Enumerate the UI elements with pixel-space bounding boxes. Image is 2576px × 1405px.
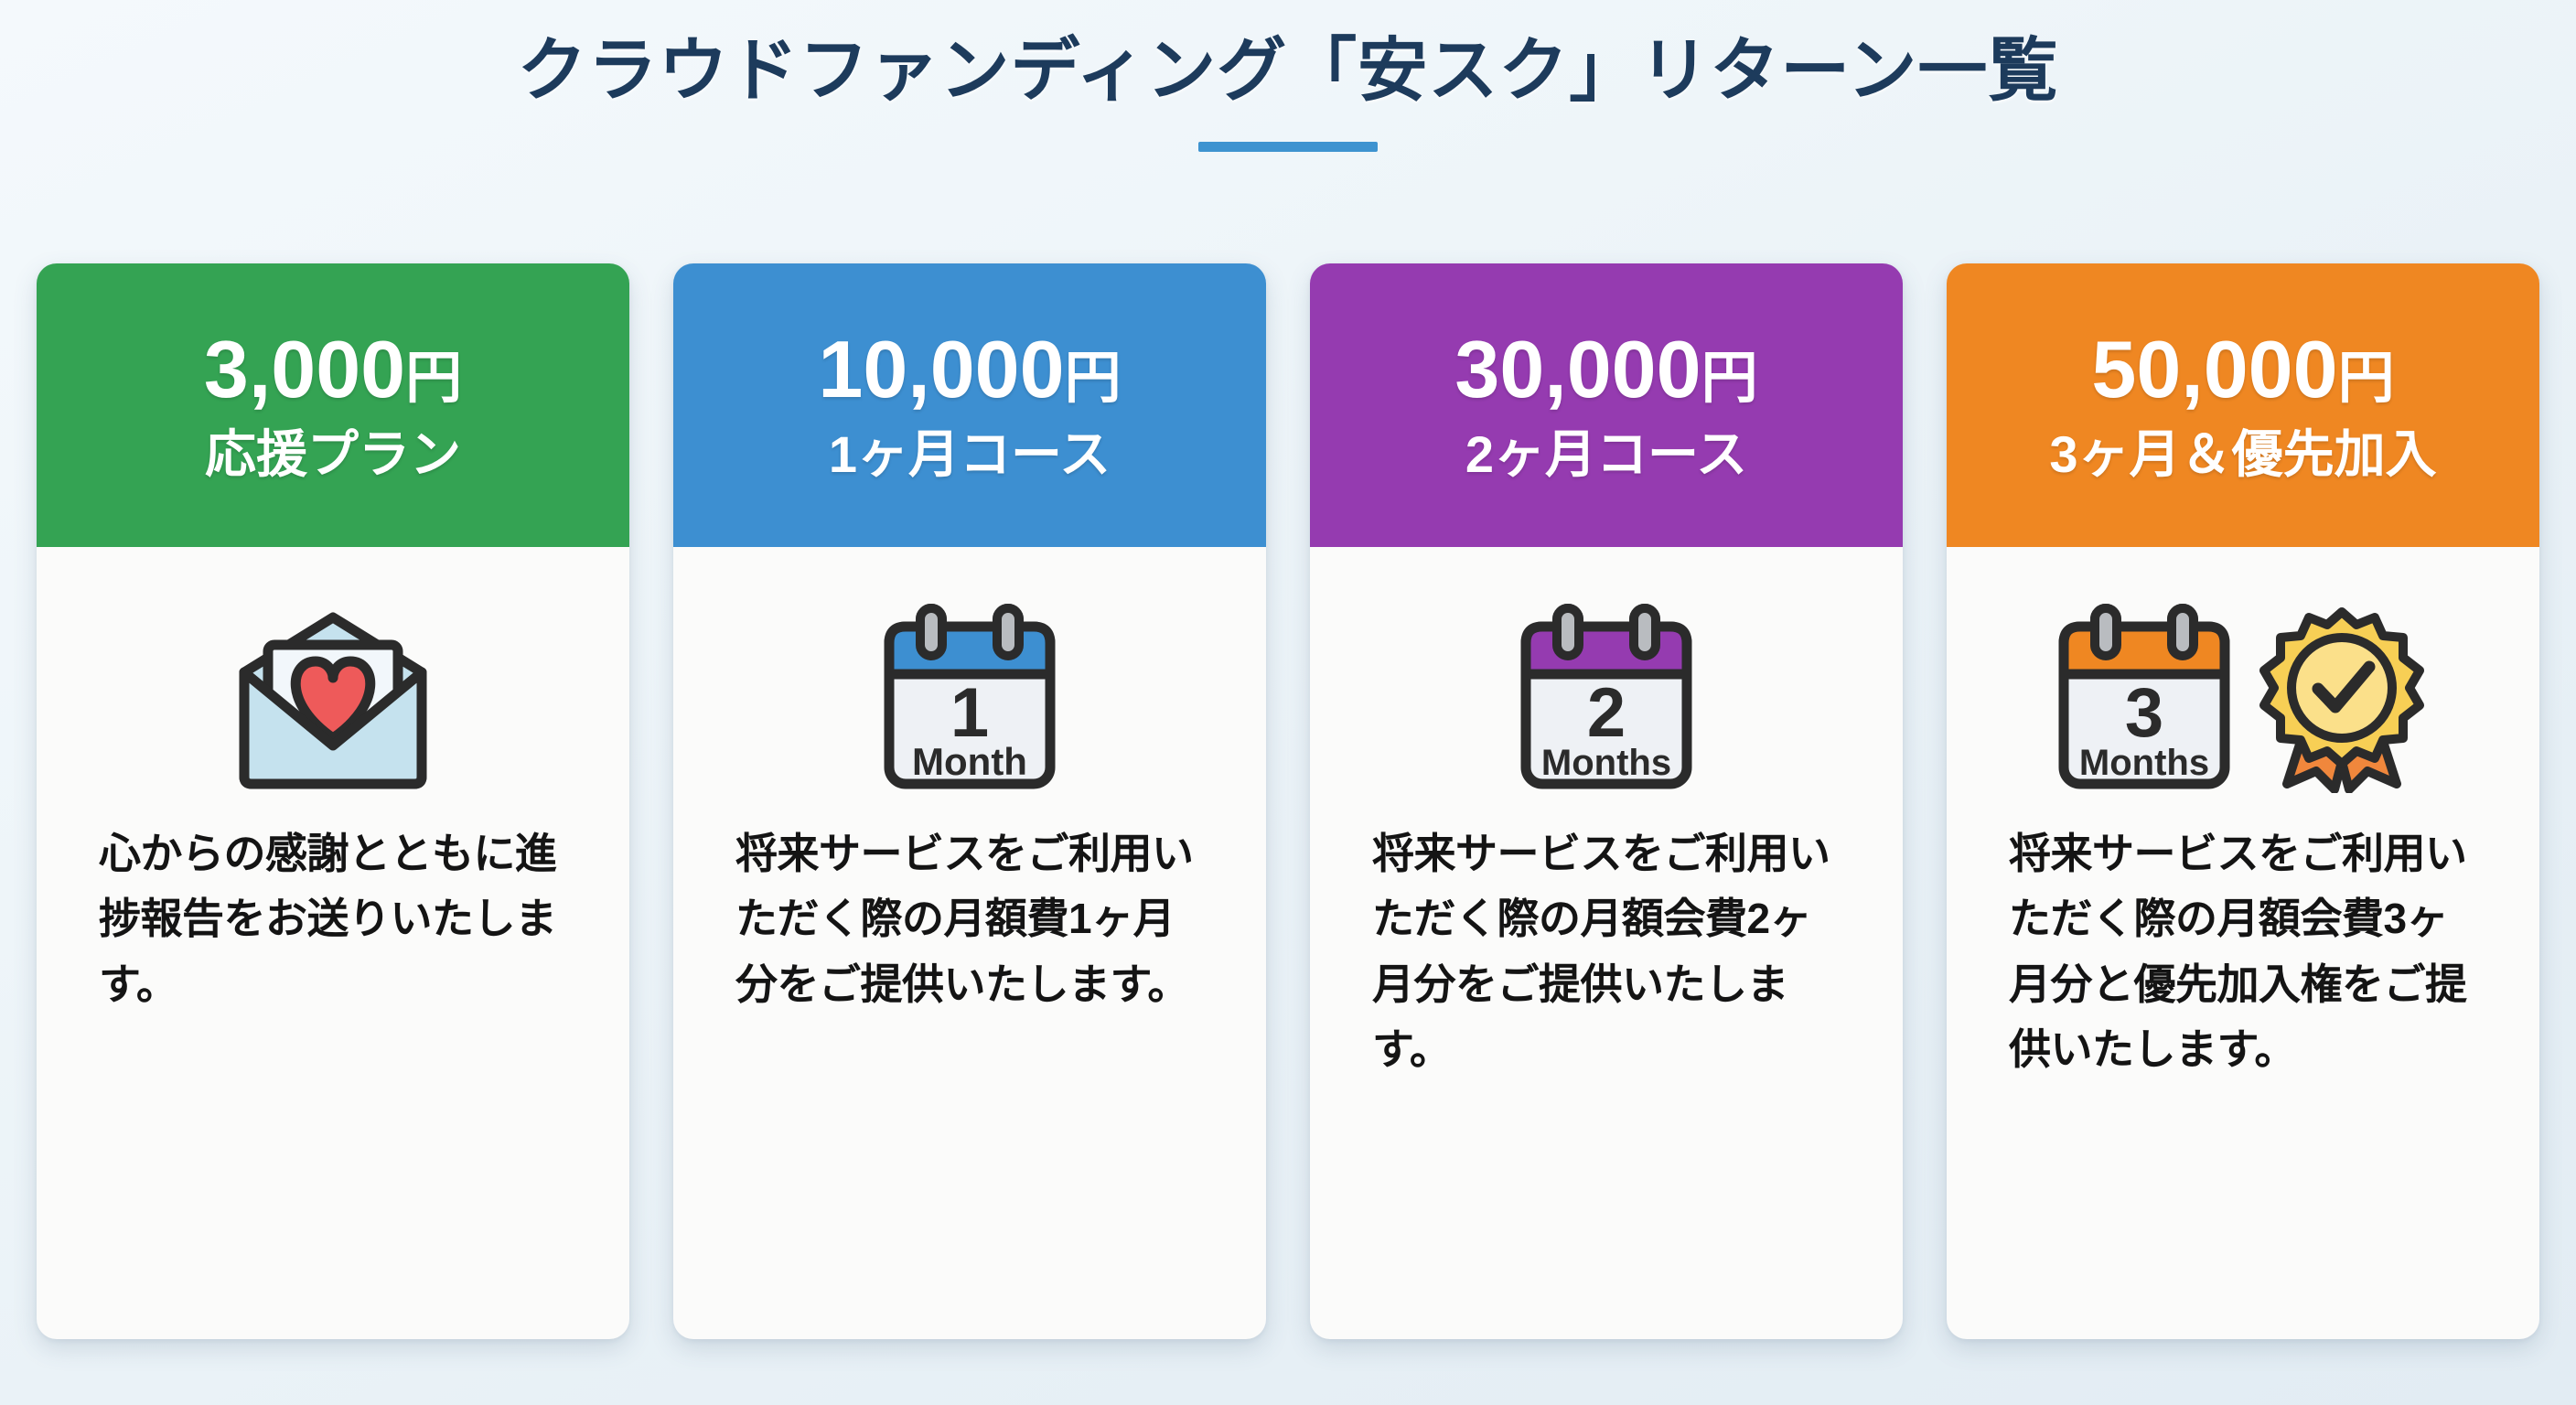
plan-price-amount: 30,000 [1454, 324, 1701, 414]
plan-price-currency: 円 [405, 347, 462, 410]
plan-card-body: 1 Month 将来サービスをご利用いただく際の月額費1ヶ月分をご提供いたします… [673, 547, 1266, 1339]
envelope-heart-icon [228, 601, 438, 798]
plan-price-currency: 円 [2338, 347, 2395, 410]
plan-price: 50,000円 [2091, 327, 2394, 412]
plan-card-body: 心からの感謝とともに進捗報告をお送りいたします。 [37, 547, 629, 1339]
calendar-number: 2 [1587, 674, 1626, 752]
plan-icon-area [228, 589, 438, 809]
plan-card[interactable]: 3,000円 応援プラン [37, 263, 629, 1339]
plan-price-amount: 50,000 [2091, 324, 2337, 414]
plan-name: 2ヶ月コース [1465, 426, 1747, 483]
page-title: クラウドファンディング「安スク」リターン一覧 [0, 27, 2576, 114]
plan-price-amount: 3,000 [204, 324, 405, 414]
plan-icon-area: 1 Month [878, 589, 1061, 809]
plan-card[interactable]: 10,000円 1ヶ月コース [673, 263, 1266, 1339]
plan-price-currency: 円 [1065, 347, 1122, 410]
plan-card-header: 30,000円 2ヶ月コース [1310, 263, 1903, 547]
plan-name: 3ヶ月＆優先加入 [2049, 426, 2436, 483]
plan-card[interactable]: 30,000円 2ヶ月コース 2 Months [1310, 263, 1903, 1339]
title-underline-accent [1198, 142, 1378, 152]
plan-icon-area: 3 Months [2053, 589, 2433, 809]
plan-card[interactable]: 50,000円 3ヶ月＆優先加入 3 Months [1947, 263, 2539, 1339]
calendar-unit: Months [1541, 743, 1671, 783]
plan-price-amount: 10,000 [818, 324, 1064, 414]
calendar-icon: 1 Month [878, 601, 1061, 798]
plan-description: 将来サービスをご利用いただく際の月額会費2ヶ月分をご提供いたします。 [1359, 821, 1853, 1082]
plan-description: 将来サービスをご利用いただく際の月額会費3ヶ月分と優先加入権をご提供いたします。 [1996, 821, 2490, 1082]
plan-price: 3,000円 [204, 327, 462, 412]
plan-card-body: 2 Months 将来サービスをご利用いただく際の月額会費2ヶ月分をご提供いたし… [1310, 547, 1903, 1339]
plan-price: 30,000円 [1454, 327, 1757, 412]
calendar-unit: Month [912, 740, 1027, 783]
calendar-unit: Months [2079, 743, 2209, 783]
plan-description: 心からの感謝とともに進捗報告をお送りいたします。 [86, 821, 580, 1017]
plan-card-row: 3,000円 応援プラン [0, 263, 2576, 1339]
plan-price-currency: 円 [1701, 347, 1758, 410]
plan-price: 10,000円 [818, 327, 1121, 412]
plan-card-header: 50,000円 3ヶ月＆優先加入 [1947, 263, 2539, 547]
plan-name: 1ヶ月コース [829, 426, 1111, 483]
calendar-icon: 3 Months [2053, 601, 2236, 798]
plan-description: 将来サービスをご利用いただく際の月額費1ヶ月分をご提供いたします。 [723, 821, 1217, 1017]
page-header: クラウドファンディング「安スク」リターン一覧 [0, 0, 2576, 152]
plan-card-header: 10,000円 1ヶ月コース [673, 263, 1266, 547]
plan-card-header: 3,000円 応援プラン [37, 263, 629, 547]
award-badge-icon [2250, 601, 2433, 798]
plan-icon-area: 2 Months [1515, 589, 1698, 809]
calendar-number: 3 [2125, 674, 2163, 752]
calendar-icon: 2 Months [1515, 601, 1698, 798]
plan-name: 応援プラン [205, 426, 461, 483]
plan-card-body: 3 Months 将来サービスをご利用いただく際 [1947, 547, 2539, 1339]
